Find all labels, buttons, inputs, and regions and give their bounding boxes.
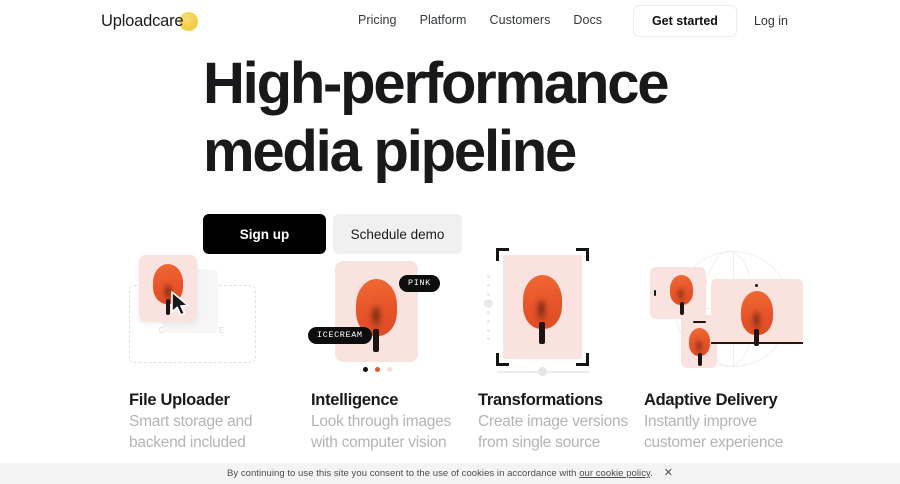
carousel-dot-3[interactable]	[387, 367, 392, 372]
close-icon[interactable]: ✕	[664, 468, 673, 479]
device-notch	[654, 290, 656, 296]
crop-corner-br-icon[interactable]	[576, 353, 589, 366]
feature-intelligence: PINK ICECREAM Intelligence Look through …	[311, 243, 471, 378]
feature-text: Adaptive Delivery Instantly improve cust…	[644, 391, 844, 454]
popsicle-stick	[698, 353, 702, 366]
nav-item-platform[interactable]: Platform	[420, 13, 467, 27]
cookie-text-after: .	[650, 468, 653, 479]
popsicle-shadow	[369, 305, 383, 331]
login-link[interactable]: Log in	[746, 14, 796, 28]
vertical-slider[interactable]	[485, 275, 492, 339]
feature-description: Instantly improve customer experience	[644, 412, 844, 454]
feature-transformations: Transformations Create image versions fr…	[478, 243, 638, 378]
cookie-text-before: By continuing to use this site you conse…	[227, 468, 579, 479]
site-header: Uploadcare Pricing Platform Customers Do…	[0, 0, 900, 42]
feature-title: Intelligence	[311, 391, 491, 410]
popsicle-shadow	[535, 299, 548, 324]
page-title-line2: media pipeline	[203, 123, 763, 181]
carousel-dot-2[interactable]	[375, 367, 380, 372]
cookie-text: By continuing to use this site you conse…	[227, 468, 653, 479]
page-title-line1: High-performance	[203, 51, 667, 116]
file-uploader-illustration: DROP HERE	[129, 243, 289, 378]
get-started-button[interactable]: Get started	[633, 5, 737, 37]
carousel-dot-1[interactable]	[363, 367, 368, 372]
feature-desc-line2: with computer vision	[311, 434, 446, 451]
horizontal-slider[interactable]	[497, 367, 589, 376]
feature-list: DROP HERE File Uploader Smart storage an…	[0, 243, 900, 453]
logo[interactable]: Uploadcare	[101, 10, 198, 32]
crop-corner-tl-icon[interactable]	[496, 248, 509, 261]
horizontal-slider-handle[interactable]	[538, 367, 547, 376]
image-card	[503, 255, 582, 359]
main-nav: Pricing Platform Customers Docs	[358, 13, 602, 27]
cookie-consent-banner: By continuing to use this site you conse…	[0, 463, 900, 484]
device-camera	[755, 284, 758, 287]
hero-section: High-performance media pipeline Sign up …	[203, 55, 763, 254]
feature-title: Adaptive Delivery	[644, 391, 844, 410]
feature-text: File Uploader Smart storage and backend …	[129, 391, 309, 454]
device-card-tablet	[650, 267, 706, 319]
cursor-icon	[170, 291, 191, 317]
feature-desc-line1: Create image versions	[478, 413, 628, 430]
feature-desc-line2: from single source	[478, 434, 600, 451]
crop-corner-bl-icon[interactable]	[496, 353, 509, 366]
popsicle-shadow	[677, 288, 685, 303]
tag-icecream[interactable]: ICECREAM	[308, 327, 372, 344]
feature-description: Look through images with computer vision	[311, 412, 491, 454]
feature-desc-line1: Look through images	[311, 413, 451, 430]
vertical-slider-handle[interactable]	[484, 299, 493, 308]
feature-adaptive-delivery: Adaptive Delivery Instantly improve cust…	[644, 243, 814, 378]
logo-text: Uploadcare	[101, 12, 183, 31]
nav-item-docs[interactable]: Docs	[573, 13, 602, 27]
page-title: High-performance media pipeline	[203, 55, 763, 181]
nav-item-customers[interactable]: Customers	[490, 13, 551, 27]
header-actions: Get started Log in	[633, 5, 796, 37]
crop-corner-tr-icon[interactable]	[576, 248, 589, 261]
adaptive-delivery-illustration	[644, 243, 814, 378]
nav-item-pricing[interactable]: Pricing	[358, 13, 397, 27]
feature-desc-line1: Instantly improve	[644, 413, 757, 430]
device-baseline	[711, 342, 803, 344]
popsicle-stick	[373, 329, 379, 352]
carousel-dots	[363, 367, 392, 372]
feature-title: File Uploader	[129, 391, 309, 410]
feature-text: Intelligence Look through images with co…	[311, 391, 491, 454]
transformations-illustration	[478, 243, 638, 378]
feature-text: Transformations Create image versions fr…	[478, 391, 658, 454]
feature-title: Transformations	[478, 391, 658, 410]
device-notch	[693, 321, 706, 323]
device-card-desktop	[711, 279, 803, 342]
popsicle-stick	[539, 322, 545, 344]
landing-page: Uploadcare Pricing Platform Customers Do…	[0, 0, 900, 484]
feature-desc-line1: Smart storage and	[129, 413, 252, 430]
feature-description: Create image versions from single source	[478, 412, 658, 454]
intelligence-illustration: PINK ICECREAM	[311, 243, 471, 378]
popsicle-shadow	[695, 340, 703, 354]
feature-description: Smart storage and backend included	[129, 412, 309, 454]
feature-desc-line2: customer experience	[644, 434, 783, 451]
cookie-policy-link[interactable]: our cookie policy	[579, 468, 650, 479]
feature-file-uploader: DROP HERE File Uploader Smart storage an…	[129, 243, 289, 378]
popsicle-stick	[680, 302, 684, 315]
tag-pink[interactable]: PINK	[399, 275, 440, 292]
feature-desc-line2: backend included	[129, 434, 246, 451]
